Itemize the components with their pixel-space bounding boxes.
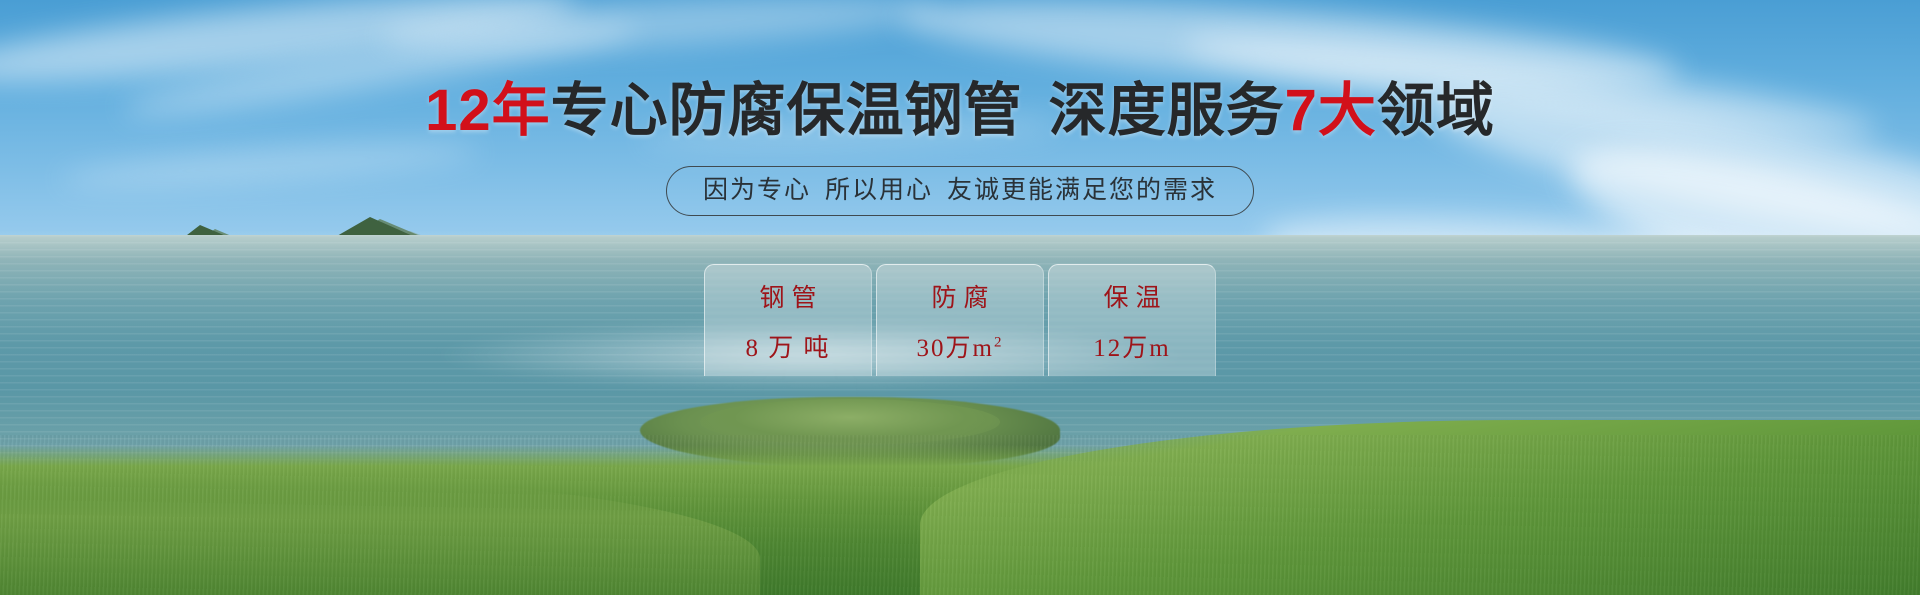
stat-card-value: 8 万 吨 bbox=[745, 328, 830, 364]
stat-card-title: 钢管 bbox=[752, 278, 823, 314]
stat-card-title: 保温 bbox=[1096, 278, 1167, 314]
stat-card-title: 防腐 bbox=[924, 278, 995, 314]
subtitle-part-1: 因为专心 bbox=[703, 176, 811, 204]
stat-card-value: 12万m bbox=[1093, 328, 1170, 364]
headline-years: 12年 bbox=[425, 78, 551, 143]
stat-card-insulation: 保温 12万m bbox=[1048, 264, 1216, 376]
subtitle-part-2: 所以用心 bbox=[825, 176, 933, 204]
subtitle-part-3: 友诚更能满足您的需求 bbox=[947, 176, 1217, 204]
subtitle-wrapper: 因为专心所以用心友诚更能满足您的需求 bbox=[0, 166, 1920, 216]
hero-banner: 12年专心防腐保温钢管深度服务7大领域 因为专心所以用心友诚更能满足您的需求 钢… bbox=[0, 0, 1920, 595]
stat-card-value: 30万m2 bbox=[917, 328, 1004, 364]
headline: 12年专心防腐保温钢管深度服务7大领域 bbox=[0, 82, 1920, 140]
stat-card-value-text: 30万m bbox=[917, 335, 994, 362]
stat-card-value-superscript: 2 bbox=[994, 334, 1004, 350]
headline-fields: 领域 bbox=[1377, 78, 1495, 143]
banner-content: 12年专心防腐保温钢管深度服务7大领域 因为专心所以用心友诚更能满足您的需求 钢… bbox=[0, 0, 1920, 595]
stat-card-anticorrosion: 防腐 30万m2 bbox=[876, 264, 1044, 376]
stat-card-value-text: 12万m bbox=[1093, 335, 1170, 362]
stat-card-value-text: 8 万 吨 bbox=[745, 335, 830, 362]
headline-main: 专心防腐保温钢管 bbox=[551, 78, 1023, 143]
subtitle-pill: 因为专心所以用心友诚更能满足您的需求 bbox=[666, 166, 1254, 216]
stat-card-steel-pipe: 钢管 8 万 吨 bbox=[704, 264, 872, 376]
stat-card-group: 钢管 8 万 吨 防腐 30万m2 保温 12万m bbox=[0, 264, 1920, 376]
headline-seven: 7大 bbox=[1285, 78, 1377, 143]
headline-service: 深度服务 bbox=[1049, 78, 1285, 143]
